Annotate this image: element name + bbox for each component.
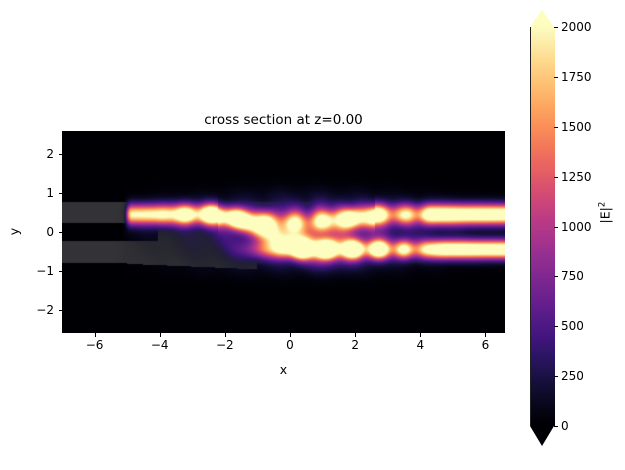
- colorbar-tick: [554, 376, 558, 377]
- colorbar-tick-label: 250: [561, 370, 584, 382]
- x-tick-label: 2: [335, 338, 375, 352]
- colorbar-tick-label: 1500: [561, 121, 592, 133]
- colorbar-tick: [554, 127, 558, 128]
- colorbar-tick: [554, 77, 558, 78]
- x-tick: [355, 333, 356, 337]
- y-axis-label: y: [7, 210, 22, 254]
- x-tick-label: −4: [140, 338, 180, 352]
- y-tick-label: −1: [12, 265, 54, 277]
- colorbar-label-exponent: 2: [597, 202, 607, 207]
- heatmap-axes: [62, 131, 505, 333]
- matplotlib-figure: cross section at z=0.00 −6−4−20246 210−1…: [0, 0, 625, 470]
- colorbar-tick: [554, 326, 558, 327]
- y-tick: [59, 232, 63, 233]
- x-tick-label: 0: [270, 338, 310, 352]
- colorbar-tick: [554, 177, 558, 178]
- colorbar-extend-top-arrow: [530, 10, 554, 27]
- colorbar-tick: [554, 227, 558, 228]
- colorbar-tick-label: 0: [561, 420, 569, 432]
- colorbar-tick-label: 1000: [561, 221, 592, 233]
- x-tick: [290, 333, 291, 337]
- colorbar-gradient: [531, 27, 555, 426]
- x-tick: [225, 333, 226, 337]
- y-tick: [59, 271, 63, 272]
- plot-title: cross section at z=0.00: [62, 112, 505, 128]
- x-tick-label: −2: [205, 338, 245, 352]
- colorbar-label-base: |E|: [598, 207, 613, 223]
- y-tick-label: 2: [12, 148, 54, 160]
- y-tick-label: −2: [12, 304, 54, 316]
- x-tick: [160, 333, 161, 337]
- x-tick-label: −6: [75, 338, 115, 352]
- x-tick: [95, 333, 96, 337]
- y-tick: [59, 310, 63, 311]
- colorbar: [530, 27, 554, 426]
- x-tick: [485, 333, 486, 337]
- colorbar-tick-label: 1750: [561, 71, 592, 83]
- x-tick-label: 6: [465, 338, 505, 352]
- colorbar-tick: [554, 276, 558, 277]
- colorbar-tick-label: 500: [561, 320, 584, 332]
- y-tick: [59, 193, 63, 194]
- colorbar-tick-label: 750: [561, 270, 584, 282]
- x-tick: [420, 333, 421, 337]
- y-tick-label: 1: [12, 187, 54, 199]
- colorbar-label: |E|2: [597, 191, 612, 235]
- colorbar-tick-label: 1250: [561, 171, 592, 183]
- x-axis-label: x: [62, 362, 505, 377]
- colorbar-extend-bottom-arrow: [530, 426, 554, 446]
- colorbar-tick: [554, 27, 558, 28]
- colorbar-tick: [554, 426, 558, 427]
- x-tick-label: 4: [400, 338, 440, 352]
- colorbar-tick-label: 2000: [561, 21, 592, 33]
- y-tick: [59, 154, 63, 155]
- field-intensity-heatmap: [62, 131, 505, 333]
